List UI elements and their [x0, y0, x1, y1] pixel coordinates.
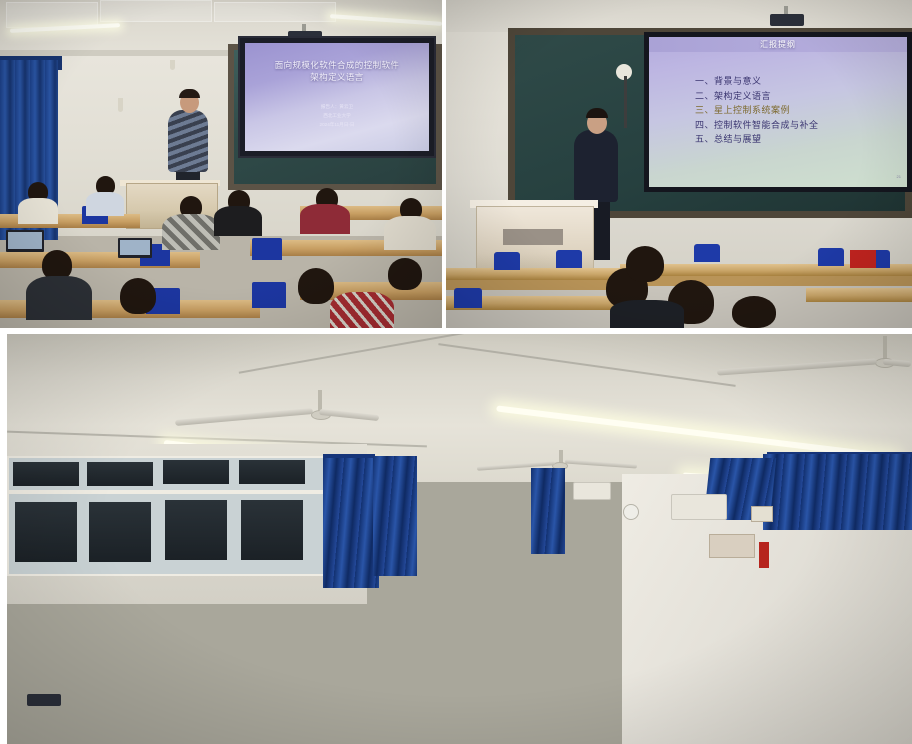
blue-curtain [763, 454, 912, 530]
student-body [214, 206, 262, 236]
red-banner [759, 542, 769, 568]
student-head [298, 268, 334, 304]
bench-row [446, 268, 622, 280]
outline-item-4: 四、控制软件智能合成与补全 [695, 118, 907, 133]
window-pane [241, 500, 303, 560]
chair [252, 238, 282, 260]
presenter-torso [168, 110, 208, 172]
bench-front [620, 276, 912, 286]
outline-item-2: 二、架构定义语言 [695, 89, 907, 104]
chair [556, 250, 582, 268]
window-pane [87, 462, 153, 486]
student-head [626, 246, 664, 282]
desk-row [0, 252, 200, 268]
student-body [300, 204, 350, 234]
window-pane [13, 462, 79, 486]
outline-item-3: 三、星上控制系统案例 [695, 103, 907, 118]
slide-outline-list: 一、背景与意义 二、架构定义语言 三、星上控制系统案例 四、控制软件智能合成与补… [649, 52, 907, 187]
slide-date: 2024年11月日-日 [320, 121, 355, 128]
chair [818, 248, 844, 266]
student-body [384, 216, 436, 250]
blue-curtain [531, 468, 565, 554]
photo-collage: 面向规模化软件合成的控制软件 架构定义语言 报告人：黄云卫 西北工业大学 202… [0, 0, 912, 744]
blue-curtain [323, 458, 379, 588]
presenter-torso [574, 130, 618, 202]
window-pane [239, 460, 305, 484]
chair [252, 282, 286, 308]
blue-curtain [373, 456, 417, 576]
laptop-screen [120, 240, 150, 255]
bench-row [806, 288, 912, 302]
wall-clock [623, 504, 639, 520]
red-flag [850, 250, 876, 268]
outline-item-5: 五、总结与展望 [695, 132, 907, 147]
student-body-plaid [330, 292, 394, 328]
student-head [388, 258, 422, 290]
chair [494, 252, 520, 270]
microphone-stand [624, 76, 627, 128]
ceiling-panel [214, 2, 336, 22]
slide-affiliation: 西北工业大学 [323, 112, 351, 119]
slide-presenter: 报告人：黄云卫 [321, 103, 353, 110]
photo-top-left[interactable]: 面向规模化软件合成的控制软件 架构定义语言 报告人：黄云卫 西北工业大学 202… [0, 0, 442, 328]
chair [454, 288, 482, 308]
ceiling-projector-icon [770, 14, 804, 26]
student-body [26, 276, 92, 320]
photo-bottom-wide[interactable]: 面向规模化软件合成的控制软件 架构定义语言 报告人：黄云卫 西北工业大学 [7, 334, 912, 744]
window-pane [89, 502, 151, 562]
slide-heading: 汇报提纲 [649, 37, 907, 52]
photo-top-right[interactable]: 汇报提纲 一、背景与意义 二、架构定义语言 三、星上控制系统案例 四、控制软件智… [446, 0, 912, 328]
window-pane [163, 460, 229, 484]
wall-lamp [118, 98, 123, 112]
outline-slide: 汇报提纲 一、背景与意义 二、架构定义语言 三、星上控制系统案例 四、控制软件智… [649, 37, 907, 187]
student-body-plaid [162, 214, 220, 250]
ceiling-fan-pole [883, 336, 887, 360]
slide-title-line2: 架构定义语言 [252, 71, 421, 83]
air-conditioner [573, 482, 611, 500]
projection-screen: 汇报提纲 一、背景与意义 二、架构定义语言 三、星上控制系统案例 四、控制软件智… [644, 32, 912, 192]
student-head [120, 278, 156, 314]
outline-item-1: 一、背景与意义 [695, 74, 907, 89]
projection-screen: 面向规模化软件合成的控制软件 架构定义语言 报告人：黄云卫 西北工业大学 202… [238, 36, 436, 158]
presenter-hair [179, 89, 200, 98]
podium-panel [503, 229, 563, 245]
title-slide: 面向规模化软件合成的控制软件 架构定义语言 报告人：黄云卫 西北工业大学 202… [245, 43, 429, 151]
ceiling-speaker [170, 60, 175, 70]
student-body [610, 300, 684, 328]
air-conditioner [671, 494, 727, 520]
chair [694, 244, 720, 262]
ceiling-projector-icon [27, 694, 61, 706]
wall-sign [751, 506, 773, 522]
student-body [86, 192, 124, 216]
ceiling-panel [100, 0, 212, 22]
slide-page-number: 21 [897, 174, 901, 179]
window-pane [165, 500, 227, 560]
window-pane [15, 502, 77, 562]
slide-title-line1: 面向规模化软件合成的控制软件 [252, 59, 421, 71]
student-body [18, 198, 58, 224]
wall-poster [709, 534, 755, 558]
student-head [732, 296, 776, 328]
laptop-screen [8, 232, 42, 249]
